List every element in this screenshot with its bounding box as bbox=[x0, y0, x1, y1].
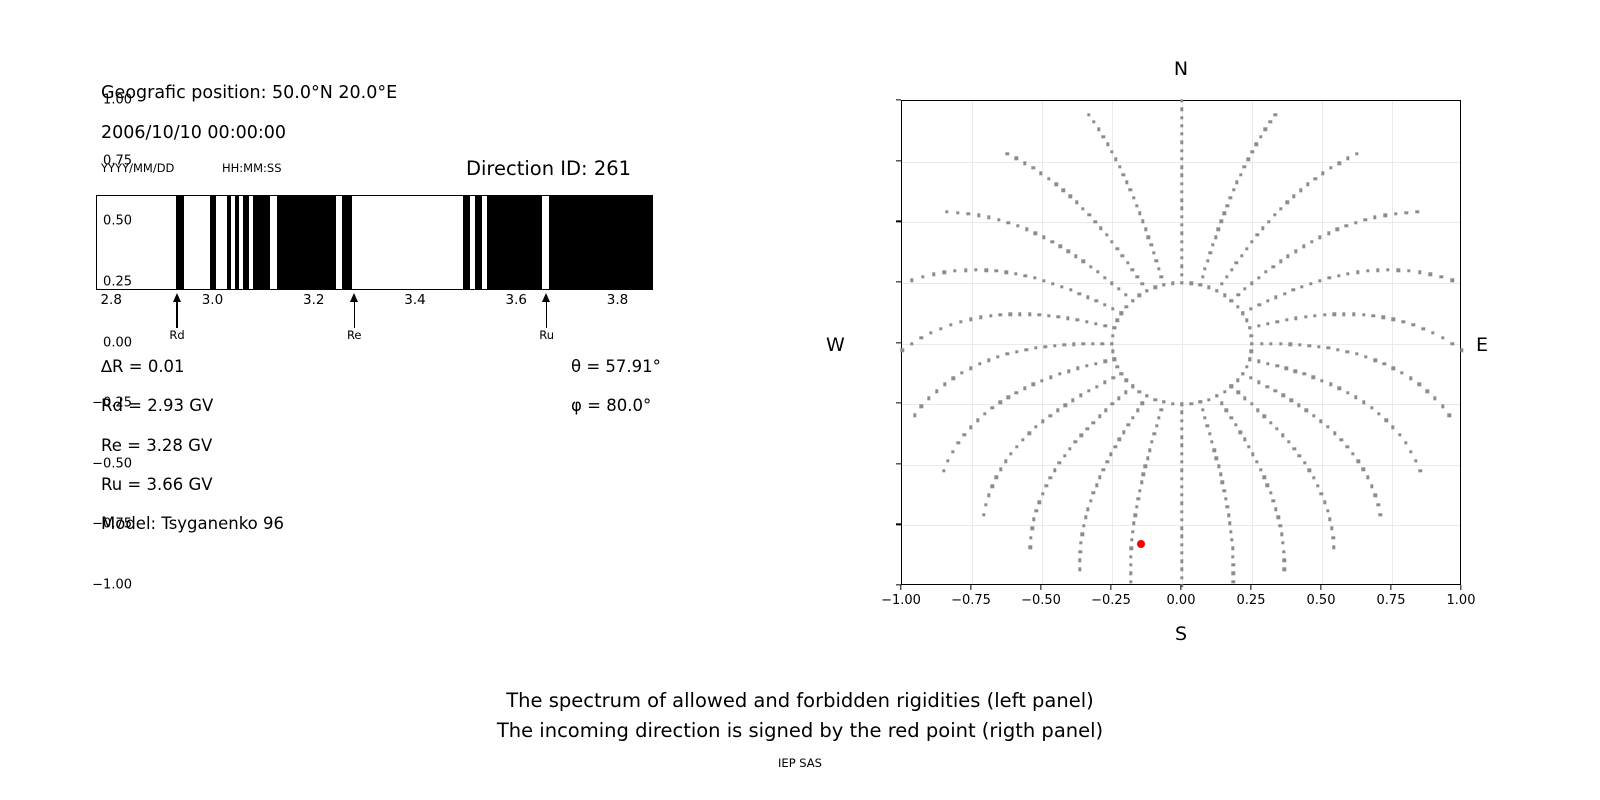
direction-dot bbox=[1256, 408, 1259, 411]
direction-dot bbox=[1279, 207, 1282, 210]
direction-dot bbox=[1141, 282, 1144, 285]
direction-dot bbox=[1180, 518, 1183, 521]
direction-dot bbox=[1125, 181, 1128, 184]
gridline-horizontal bbox=[902, 344, 1460, 345]
direction-dot bbox=[1117, 396, 1120, 399]
direction-dot bbox=[1198, 400, 1201, 403]
direction-dot bbox=[1323, 500, 1326, 503]
direction-dot bbox=[1258, 303, 1261, 306]
direction-dot bbox=[1180, 174, 1183, 177]
direction-dot bbox=[1045, 484, 1048, 487]
direction-dot bbox=[1180, 551, 1183, 554]
direction-dot bbox=[1235, 261, 1238, 264]
direction-dot bbox=[951, 450, 954, 453]
direction-dot bbox=[1009, 313, 1012, 316]
x-axis-tick-label: 1.00 bbox=[1447, 593, 1476, 608]
direction-dot bbox=[1180, 510, 1183, 513]
direction-dot bbox=[1154, 286, 1157, 289]
direction-dot bbox=[1279, 260, 1282, 263]
direction-dot bbox=[1063, 454, 1066, 457]
direction-dot bbox=[1232, 580, 1235, 583]
direction-dot bbox=[1129, 563, 1132, 566]
direction-dot bbox=[900, 349, 903, 352]
direction-dot bbox=[1419, 469, 1422, 472]
direction-dot bbox=[1414, 459, 1417, 462]
direction-dot bbox=[1087, 113, 1090, 116]
direction-dot bbox=[984, 503, 987, 506]
direction-dot bbox=[1392, 317, 1395, 320]
direction-dot bbox=[1096, 270, 1099, 273]
direction-dot bbox=[1441, 336, 1444, 339]
direction-dot bbox=[1085, 427, 1088, 430]
direction-dot bbox=[1370, 484, 1373, 487]
direction-dot bbox=[1374, 494, 1377, 497]
direction-dot bbox=[1076, 367, 1079, 370]
direction-dot bbox=[1116, 365, 1119, 368]
direction-dot bbox=[987, 216, 990, 219]
direction-dot bbox=[1138, 294, 1141, 297]
direction-dot bbox=[1124, 391, 1127, 394]
direction-dot bbox=[1328, 518, 1331, 521]
direction-dot bbox=[942, 469, 945, 472]
direction-dot bbox=[1067, 369, 1070, 372]
direction-dot bbox=[1078, 559, 1081, 562]
direction-dot bbox=[1067, 249, 1070, 252]
direction-dot bbox=[1225, 204, 1228, 207]
direction-dot bbox=[1038, 500, 1041, 503]
x-axis-tick-label: 0.25 bbox=[1237, 593, 1266, 608]
direction-dot bbox=[983, 412, 986, 415]
direction-dot bbox=[910, 279, 913, 282]
direction-dot bbox=[1250, 342, 1253, 345]
direction-dot bbox=[982, 513, 985, 516]
direction-dot bbox=[1038, 313, 1041, 316]
direction-dot bbox=[1217, 465, 1220, 468]
direction-dot bbox=[1136, 409, 1139, 412]
direction-dot bbox=[1376, 503, 1379, 506]
direction-dot bbox=[1250, 402, 1253, 405]
direction-dot bbox=[979, 316, 982, 319]
direction-dot bbox=[1180, 493, 1183, 496]
direction-dot bbox=[1412, 323, 1415, 326]
direction-dot bbox=[989, 314, 992, 317]
direction-dot bbox=[1305, 409, 1308, 412]
direction-dot bbox=[1044, 345, 1047, 348]
x-axis-tick-label: −0.25 bbox=[1091, 593, 1131, 608]
y-axis-tick-mark bbox=[896, 281, 901, 282]
direction-dot bbox=[1229, 196, 1232, 199]
direction-dot bbox=[1289, 399, 1292, 402]
direction-dot bbox=[1130, 547, 1133, 550]
direction-dot bbox=[1142, 473, 1145, 476]
direction-dot bbox=[1282, 550, 1285, 553]
direction-dot bbox=[1079, 550, 1082, 553]
direction-dot bbox=[1004, 460, 1007, 463]
direction-dot bbox=[1312, 414, 1315, 417]
direction-dot bbox=[1337, 274, 1340, 277]
y-axis-tick-label: 0.75 bbox=[103, 153, 132, 168]
direction-dot bbox=[1180, 232, 1183, 235]
direction-dot bbox=[1333, 313, 1336, 316]
direction-dot bbox=[1274, 389, 1277, 392]
direction-dot bbox=[1286, 201, 1289, 204]
direction-dot bbox=[939, 327, 942, 330]
direction-dot bbox=[1034, 346, 1037, 349]
direction-dot bbox=[963, 433, 966, 436]
direction-dot bbox=[1157, 416, 1160, 419]
direction-dot bbox=[1219, 473, 1222, 476]
y-axis-tick-mark bbox=[896, 99, 901, 100]
direction-dot bbox=[1237, 391, 1240, 394]
direction-dot bbox=[1028, 313, 1031, 316]
direction-dot bbox=[1306, 183, 1309, 186]
direction-dot bbox=[1203, 416, 1206, 419]
direction-dot bbox=[1129, 555, 1132, 558]
direction-dot bbox=[953, 269, 956, 272]
direction-dot bbox=[1366, 476, 1369, 479]
direction-dot bbox=[1404, 441, 1407, 444]
direction-dot bbox=[1317, 345, 1320, 348]
direction-dot bbox=[1171, 282, 1174, 285]
direction-dot bbox=[1082, 524, 1085, 527]
direction-dot bbox=[1124, 293, 1127, 296]
direction-dot bbox=[1180, 568, 1183, 571]
direction-dot bbox=[1056, 409, 1059, 412]
incoming-direction-point bbox=[1137, 540, 1145, 548]
direction-dot bbox=[1278, 524, 1281, 527]
direction-dot bbox=[1245, 319, 1248, 322]
direction-dot bbox=[1058, 461, 1061, 464]
direction-dot bbox=[1132, 522, 1135, 525]
direction-dot bbox=[1429, 273, 1432, 276]
direction-dot bbox=[1232, 563, 1235, 566]
direction-dot bbox=[1234, 423, 1237, 426]
direction-dot bbox=[1007, 221, 1010, 224]
direction-dot bbox=[1239, 173, 1242, 176]
direction-dot bbox=[1088, 213, 1091, 216]
direction-dot bbox=[945, 210, 948, 213]
direction-dot bbox=[997, 218, 1000, 221]
direction-dot bbox=[976, 419, 979, 422]
direction-dot bbox=[1069, 288, 1072, 291]
direction-dot bbox=[1189, 282, 1192, 285]
direction-dot bbox=[1366, 269, 1369, 272]
direction-dot bbox=[1051, 282, 1054, 285]
direction-dot bbox=[1339, 438, 1342, 441]
direction-dot bbox=[1323, 313, 1326, 316]
incoming-direction-panel: N S W E −1.00−0.75−0.50−0.250.000.250.50… bbox=[0, 0, 1600, 680]
direction-dot bbox=[1260, 342, 1263, 345]
direction-dot bbox=[1379, 513, 1382, 516]
direction-dot bbox=[1111, 334, 1114, 337]
direction-dot bbox=[1180, 281, 1183, 284]
direction-dot bbox=[1316, 484, 1319, 487]
direction-dot bbox=[1111, 350, 1114, 353]
direction-dot bbox=[1125, 305, 1128, 308]
direction-dot bbox=[1110, 150, 1113, 153]
direction-dot bbox=[995, 269, 998, 272]
direction-dot bbox=[1032, 382, 1035, 385]
direction-dot bbox=[1227, 513, 1230, 516]
direction-dot bbox=[1098, 476, 1101, 479]
direction-dot bbox=[1276, 320, 1279, 323]
direction-dot bbox=[1277, 516, 1280, 519]
direction-dot bbox=[1062, 188, 1065, 191]
direction-dot bbox=[1103, 380, 1106, 383]
direction-dot bbox=[969, 317, 972, 320]
gridline-vertical bbox=[1392, 101, 1393, 584]
direction-dot bbox=[987, 494, 990, 497]
direction-dot bbox=[1251, 453, 1254, 456]
y-axis-tick-label: −0.25 bbox=[92, 396, 132, 411]
direction-dot bbox=[1346, 272, 1349, 275]
direction-dot bbox=[1068, 447, 1071, 450]
direction-dot bbox=[967, 212, 970, 215]
direction-dot bbox=[1144, 228, 1147, 231]
direction-dot bbox=[1041, 492, 1044, 495]
direction-dot bbox=[1171, 402, 1174, 405]
direction-dot bbox=[1259, 468, 1262, 471]
direction-dot bbox=[1225, 409, 1228, 412]
direction-dot bbox=[1138, 390, 1141, 393]
direction-dot bbox=[1409, 377, 1412, 380]
direction-dot bbox=[1109, 453, 1112, 456]
direction-dot bbox=[1033, 276, 1036, 279]
direction-dot bbox=[1243, 396, 1246, 399]
x-axis-tick-mark bbox=[1390, 585, 1391, 590]
direction-dot bbox=[1094, 362, 1097, 365]
direction-dot bbox=[1208, 432, 1211, 435]
y-axis-tick-mark bbox=[896, 524, 901, 525]
direction-dot bbox=[1262, 476, 1265, 479]
direction-dot bbox=[1308, 469, 1311, 472]
direction-dot bbox=[1272, 265, 1275, 268]
direction-dot bbox=[1129, 580, 1132, 583]
direction-dot bbox=[1266, 385, 1269, 388]
direction-dot bbox=[1228, 522, 1231, 525]
direction-dot bbox=[1266, 322, 1269, 325]
direction-dot bbox=[964, 269, 967, 272]
direction-dot bbox=[1354, 396, 1357, 399]
direction-dot bbox=[1236, 379, 1239, 382]
caption-line-2: The incoming direction is signed by the … bbox=[0, 716, 1600, 746]
direction-dot bbox=[1145, 289, 1148, 292]
x-axis-tick-mark bbox=[1180, 585, 1181, 590]
y-axis-tick-mark bbox=[896, 402, 901, 403]
direction-dot bbox=[1092, 421, 1095, 424]
direction-dot bbox=[1346, 445, 1349, 448]
direction-dot bbox=[1370, 406, 1373, 409]
direction-dot bbox=[1121, 254, 1124, 257]
direction-dot bbox=[1266, 362, 1269, 365]
direction-dot bbox=[1241, 311, 1244, 314]
direction-dot bbox=[1180, 576, 1183, 579]
direction-dot bbox=[1089, 499, 1092, 502]
direction-dot bbox=[1397, 269, 1400, 272]
direction-dot bbox=[919, 336, 922, 339]
direction-dot bbox=[1138, 489, 1141, 492]
direction-dot bbox=[1409, 450, 1412, 453]
direction-dot bbox=[1303, 461, 1306, 464]
direction-dot bbox=[1329, 166, 1332, 169]
direction-dot bbox=[1308, 344, 1311, 347]
direction-dot bbox=[1231, 555, 1234, 558]
direction-dot bbox=[1180, 157, 1183, 160]
y-axis-tick-label: 0.00 bbox=[103, 335, 132, 350]
direction-dot bbox=[1180, 273, 1183, 276]
direction-dot bbox=[1232, 188, 1235, 191]
direction-scatter-chart bbox=[901, 100, 1461, 585]
direction-dot bbox=[1091, 342, 1094, 345]
direction-dot bbox=[1132, 196, 1135, 199]
direction-dot bbox=[1352, 313, 1355, 316]
direction-dot bbox=[1180, 256, 1183, 259]
direction-dot bbox=[1351, 452, 1354, 455]
caption-line-1: The spectrum of allowed and forbidden ri… bbox=[0, 686, 1600, 716]
direction-dot bbox=[1152, 251, 1155, 254]
direction-dot bbox=[1081, 533, 1084, 536]
direction-dot bbox=[1131, 299, 1134, 302]
direction-dot bbox=[1364, 218, 1367, 221]
direction-dot bbox=[1275, 364, 1278, 367]
direction-dot bbox=[1407, 269, 1410, 272]
direction-dot bbox=[1329, 382, 1332, 385]
direction-dot bbox=[1255, 143, 1258, 146]
direction-dot bbox=[1215, 289, 1218, 292]
direction-dot bbox=[1203, 267, 1206, 270]
direction-dot bbox=[1122, 173, 1125, 176]
direction-dot bbox=[1145, 394, 1148, 397]
direction-dot bbox=[1004, 271, 1007, 274]
direction-dot bbox=[1416, 210, 1419, 213]
direction-dot bbox=[1222, 212, 1225, 215]
direction-dot bbox=[1110, 342, 1113, 345]
direction-dot bbox=[1229, 416, 1232, 419]
direction-dot bbox=[1018, 312, 1021, 315]
direction-dot bbox=[1207, 398, 1210, 401]
direction-dot bbox=[1247, 445, 1250, 448]
direction-dot bbox=[1180, 411, 1183, 414]
direction-dot bbox=[1235, 181, 1238, 184]
x-axis-tick-label: 0.00 bbox=[1167, 593, 1196, 608]
direction-dot bbox=[1243, 438, 1246, 441]
direction-dot bbox=[1201, 408, 1204, 411]
direction-dot bbox=[1328, 276, 1331, 279]
direction-dot bbox=[1048, 414, 1051, 417]
direction-dot bbox=[1211, 243, 1214, 246]
direction-dot bbox=[1095, 483, 1098, 486]
direction-dot bbox=[1213, 448, 1216, 451]
direction-dot bbox=[1223, 294, 1226, 297]
direction-dot bbox=[1269, 491, 1272, 494]
direction-dot bbox=[1217, 228, 1220, 231]
direction-dot bbox=[1451, 342, 1454, 345]
direction-dot bbox=[1129, 572, 1132, 575]
direction-dot bbox=[1099, 226, 1102, 229]
direction-dot bbox=[1294, 249, 1297, 252]
direction-dot bbox=[1103, 360, 1106, 363]
direction-dot bbox=[1287, 440, 1290, 443]
direction-dot bbox=[1066, 317, 1069, 320]
direction-dot bbox=[1031, 166, 1034, 169]
direction-dot bbox=[1094, 220, 1097, 223]
direction-dot bbox=[1283, 559, 1286, 562]
direction-dot bbox=[1053, 344, 1056, 347]
direction-dot bbox=[1250, 350, 1253, 353]
direction-plot-area bbox=[901, 100, 1461, 585]
direction-dot bbox=[1180, 559, 1183, 562]
direction-dot bbox=[1356, 271, 1359, 274]
direction-dot bbox=[1006, 396, 1009, 399]
direction-dot bbox=[1283, 292, 1286, 295]
direction-dot bbox=[1240, 254, 1243, 257]
direction-dot bbox=[1400, 371, 1403, 374]
direction-dot bbox=[1180, 124, 1183, 127]
y-axis-tick-label: −0.50 bbox=[92, 456, 132, 471]
direction-dot bbox=[1082, 342, 1085, 345]
direction-dot bbox=[1327, 232, 1330, 235]
direction-dot bbox=[913, 413, 916, 416]
direction-dot bbox=[1023, 386, 1026, 389]
direction-dot bbox=[1028, 546, 1031, 549]
direction-dot bbox=[1141, 401, 1144, 404]
direction-dot bbox=[1149, 243, 1152, 246]
direction-dot bbox=[1285, 367, 1288, 370]
direction-dot bbox=[1180, 435, 1183, 438]
direction-dot bbox=[1264, 128, 1267, 131]
direction-dot bbox=[1310, 240, 1313, 243]
direction-dot bbox=[1288, 343, 1291, 346]
x-axis-tick-label: −1.00 bbox=[881, 593, 921, 608]
direction-dot bbox=[1267, 220, 1270, 223]
direction-dot bbox=[1131, 385, 1134, 388]
direction-dot bbox=[1058, 372, 1061, 375]
direction-dot bbox=[1362, 313, 1365, 316]
direction-dot bbox=[1105, 460, 1108, 463]
direction-dot bbox=[1257, 324, 1260, 327]
direction-dot bbox=[1103, 276, 1106, 279]
direction-dot bbox=[1294, 317, 1297, 320]
direction-dot bbox=[1257, 276, 1260, 279]
direction-dot bbox=[1024, 274, 1027, 277]
y-axis-tick-mark bbox=[896, 221, 901, 222]
direction-dot bbox=[1180, 215, 1183, 218]
direction-dot bbox=[978, 362, 981, 365]
direction-dot bbox=[991, 406, 994, 409]
x-axis-tick-label: 0.50 bbox=[1307, 593, 1336, 608]
direction-dot bbox=[1180, 132, 1183, 135]
direction-dot bbox=[1053, 469, 1056, 472]
direction-dot bbox=[1256, 233, 1259, 236]
direction-dot bbox=[1318, 279, 1321, 282]
direction-dot bbox=[1126, 261, 1129, 264]
direction-dot bbox=[1273, 213, 1276, 216]
y-axis-tick-label: 0.25 bbox=[103, 274, 132, 289]
direction-dot bbox=[1417, 383, 1420, 386]
direction-dot bbox=[1136, 275, 1139, 278]
direction-dot bbox=[1346, 157, 1349, 160]
direction-dot bbox=[1153, 432, 1156, 435]
x-axis-tick-label: 0.75 bbox=[1377, 593, 1406, 608]
direction-dot bbox=[1059, 245, 1062, 248]
direction-dot bbox=[1057, 315, 1060, 318]
direction-dot bbox=[959, 320, 962, 323]
direction-dot bbox=[1198, 283, 1201, 286]
direction-dot bbox=[1269, 342, 1272, 345]
direction-dot bbox=[1079, 394, 1082, 397]
direction-dot bbox=[1180, 444, 1183, 447]
direction-dot bbox=[1136, 497, 1139, 500]
